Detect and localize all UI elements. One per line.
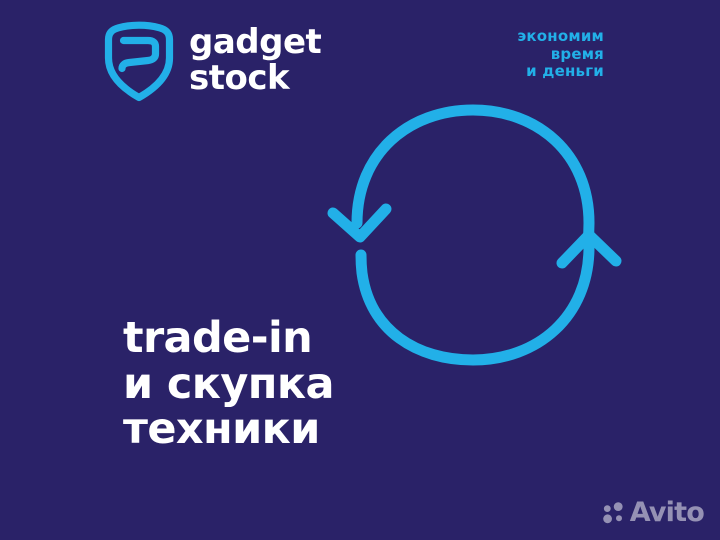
cycle-arrows-icon [330, 95, 620, 375]
gadget-stock-shield-logo-icon [103, 20, 175, 102]
brand-wordmark-line-1: gadget [189, 24, 321, 60]
brand-logo-lockup: gadget stock [103, 20, 321, 102]
avito-wordmark-label: Avito [630, 499, 704, 526]
tagline-line-3: и деньги [517, 63, 604, 81]
avito-watermark: Avito [603, 499, 704, 526]
promo-banner: gadget stock экономим время и деньги tra… [0, 0, 720, 540]
avito-dots-icon [603, 502, 625, 524]
tagline: экономим время и деньги [517, 28, 604, 81]
brand-wordmark-line-2: stock [189, 60, 321, 96]
headline-line-1: trade-in [123, 316, 334, 362]
tagline-line-2: время [517, 46, 604, 64]
headline-line-2: и скупка [123, 362, 334, 408]
brand-wordmark: gadget stock [189, 24, 321, 99]
tagline-line-1: экономим [517, 28, 604, 46]
headline-line-3: техники [123, 407, 334, 453]
headline: trade-in и скупка техники [123, 316, 334, 453]
